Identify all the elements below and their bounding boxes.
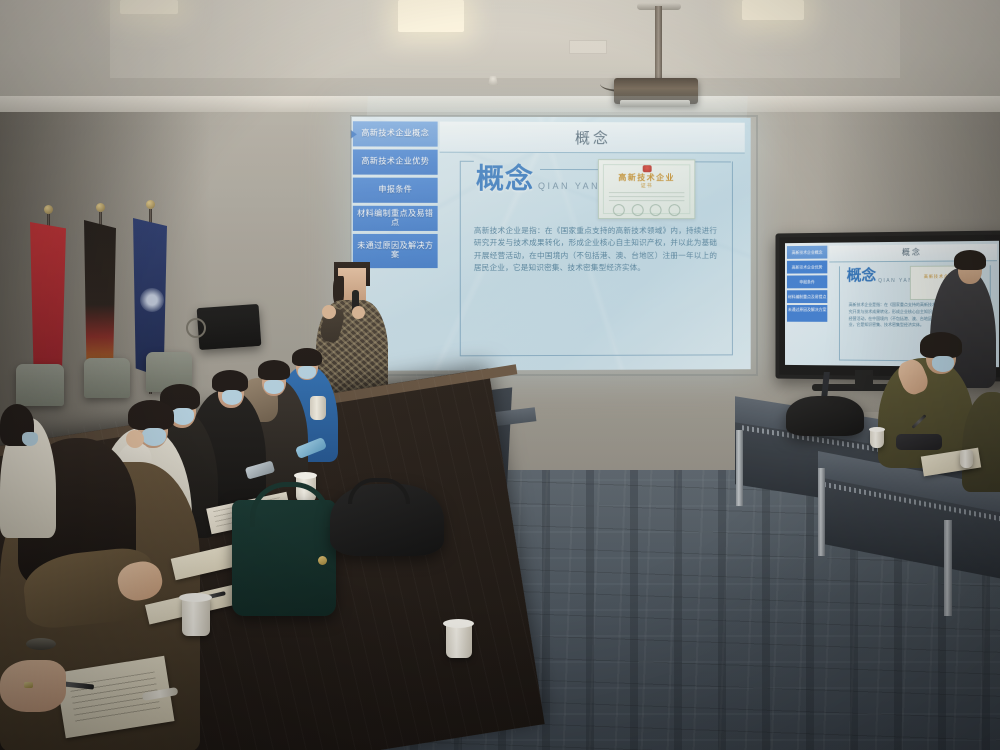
red-flag bbox=[30, 222, 66, 382]
chair-armrest bbox=[186, 318, 206, 338]
conference-room-photo: 概念 高新技术企业概念 高新技术企业优势 申报条件 材料编制重点及易错点 未通过… bbox=[0, 0, 1000, 750]
tv-heading-cn: 概念 bbox=[847, 264, 876, 285]
table-leg bbox=[736, 430, 743, 506]
attendee-hand bbox=[0, 660, 66, 712]
backpack bbox=[786, 396, 864, 436]
projector-pole bbox=[655, 6, 662, 82]
flag-finial bbox=[44, 205, 53, 214]
tv-slide-sidebar: 高新技术企业概念 高新技术企业优势 申报条件 材料编制重点及易错点 未通过原因及… bbox=[787, 246, 827, 324]
back-monitor bbox=[197, 304, 262, 350]
flag-finial bbox=[96, 203, 105, 212]
screen-frame bbox=[350, 115, 758, 376]
presenter-hand bbox=[322, 305, 336, 319]
paper-cup bbox=[182, 596, 210, 636]
attendee-hand bbox=[126, 430, 144, 448]
table-leg bbox=[818, 468, 825, 556]
tv-sidebar-item: 高新技术企业优势 bbox=[787, 261, 827, 274]
ceiling-light-panel bbox=[742, 0, 804, 20]
face-mask bbox=[172, 408, 194, 425]
attendee-hair bbox=[954, 250, 986, 270]
tv-heading-en: QIAN YAN bbox=[878, 278, 913, 284]
handbag-clasp bbox=[318, 556, 327, 565]
office-chair bbox=[16, 364, 64, 406]
face-mask bbox=[298, 366, 316, 379]
cup-rim bbox=[443, 619, 474, 628]
face-mask bbox=[22, 432, 38, 446]
flag-finial bbox=[146, 200, 155, 209]
attendee-hair bbox=[258, 360, 290, 380]
ring bbox=[24, 682, 33, 688]
presenter-hand bbox=[352, 306, 365, 319]
tv-sidebar-item: 材料编制重点及易错点 bbox=[787, 290, 827, 303]
table-leg bbox=[944, 520, 952, 616]
ceiling-light-panel bbox=[398, 0, 464, 32]
glasses-case bbox=[896, 434, 942, 450]
flag-emblem-icon bbox=[140, 288, 164, 312]
tv-sidebar-item: 高新技术企业概念 bbox=[787, 246, 827, 259]
ceiling-light-panel bbox=[120, 0, 178, 14]
paper-cup bbox=[960, 450, 973, 468]
face-mask bbox=[932, 356, 954, 372]
tv-sidebar-item: 未通过原因及解决方案 bbox=[787, 305, 827, 322]
tv-sidebar-item: 申报条件 bbox=[787, 275, 827, 288]
attendee-hair bbox=[292, 348, 322, 366]
projector-lens-icon bbox=[620, 100, 690, 107]
face-mask bbox=[264, 380, 284, 394]
face-mask bbox=[222, 390, 242, 405]
face-mask bbox=[142, 428, 166, 446]
cup-rim bbox=[179, 593, 212, 602]
ceiling-vent bbox=[569, 40, 607, 54]
office-chair bbox=[84, 358, 130, 398]
water-bottle bbox=[310, 396, 326, 420]
attendee-hair bbox=[128, 400, 174, 430]
attendee-hair bbox=[212, 370, 248, 392]
cup-rim bbox=[869, 427, 885, 432]
attendee-hair bbox=[920, 332, 962, 358]
lens-cap bbox=[26, 638, 56, 650]
cup-rim bbox=[294, 472, 317, 479]
